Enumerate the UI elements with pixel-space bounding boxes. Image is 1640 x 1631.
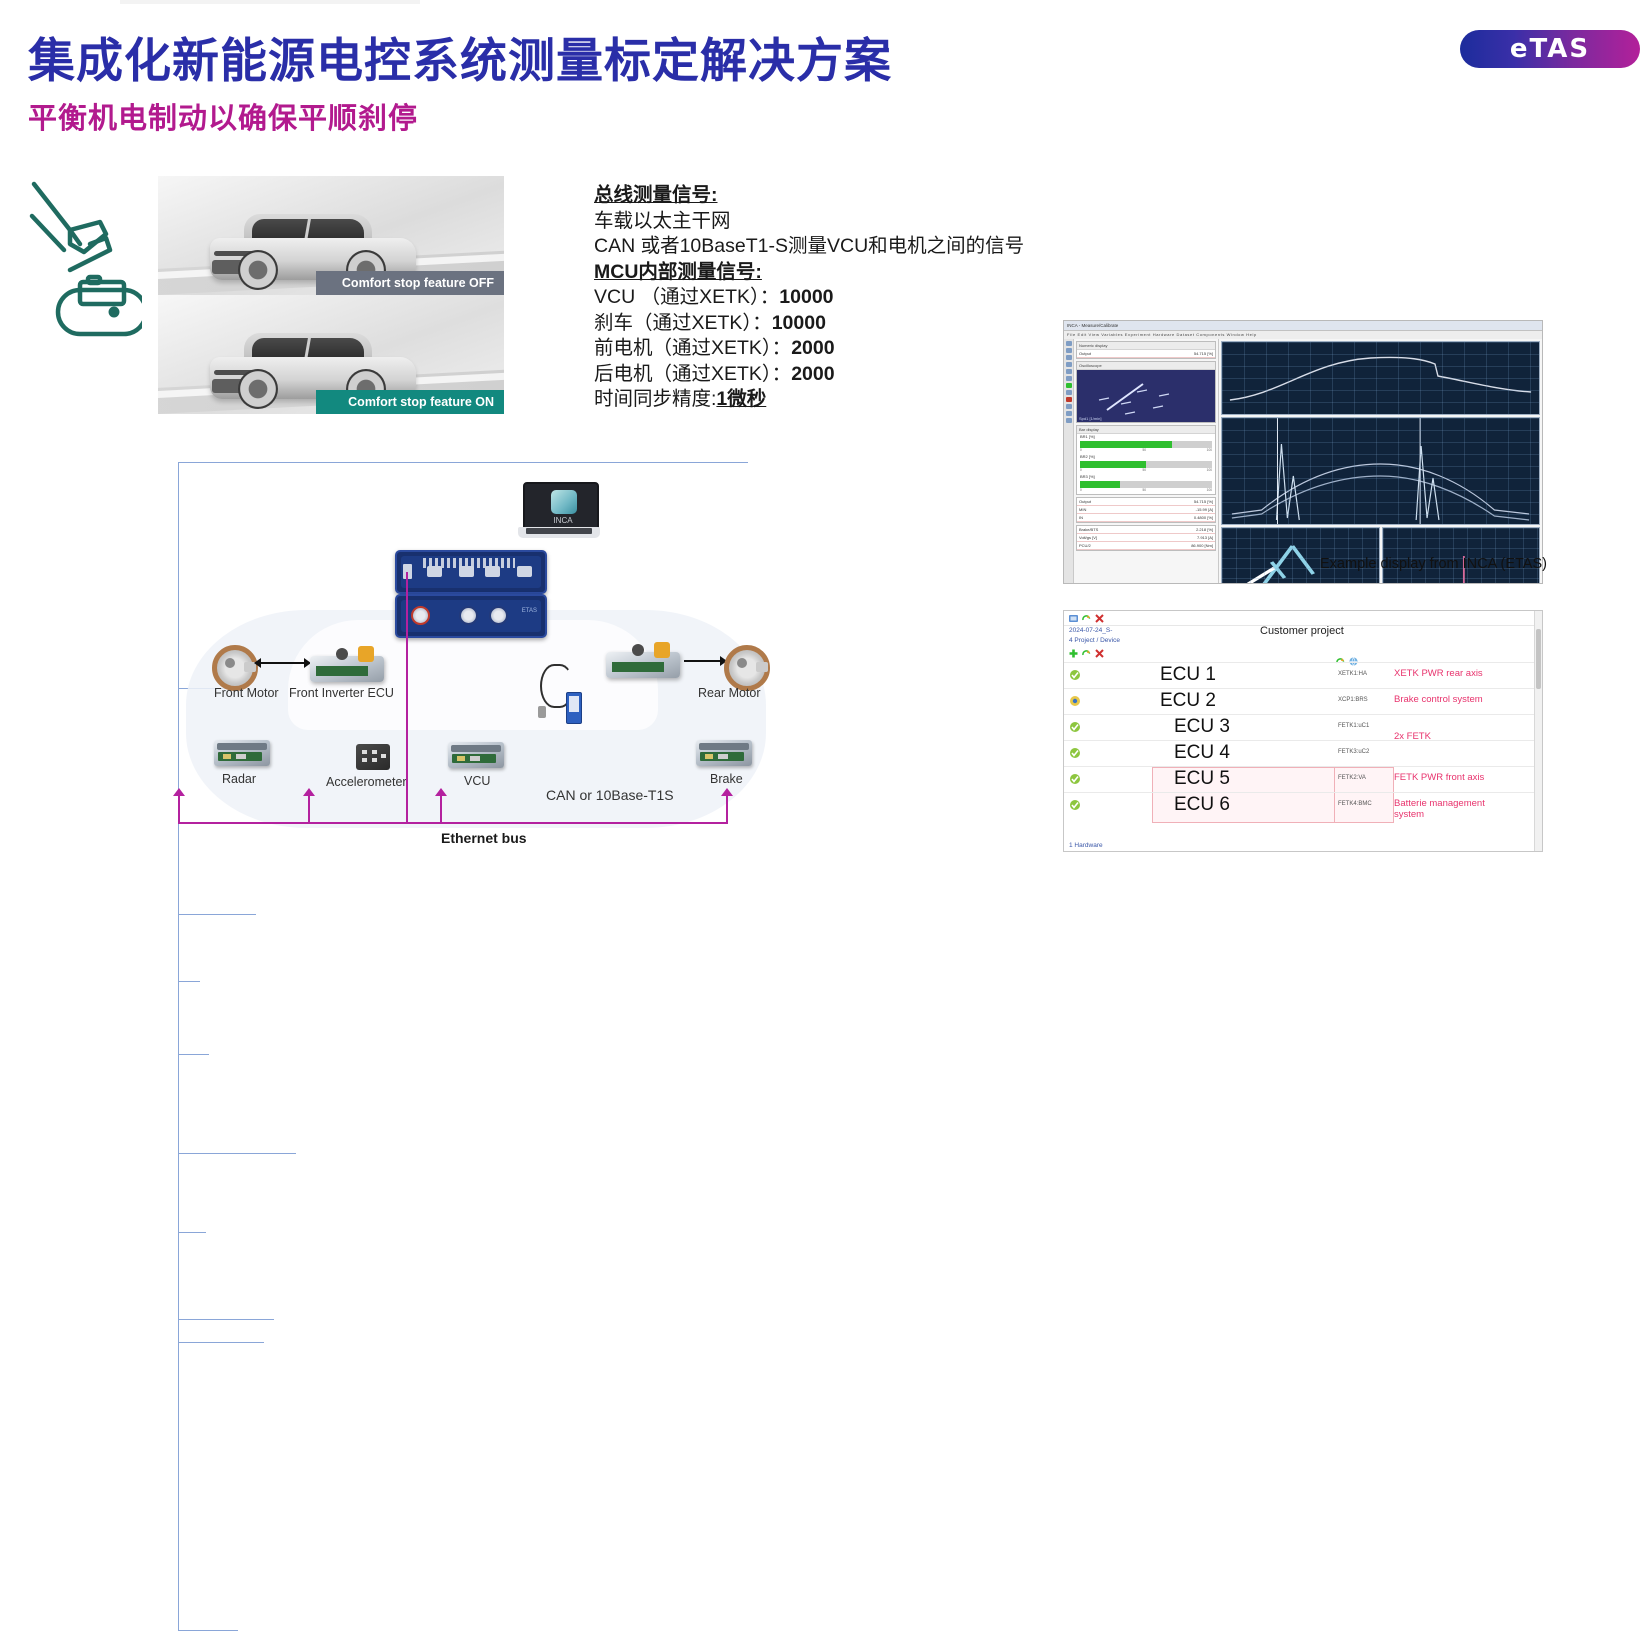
inca-numeric-value: 7.913 [A] (1197, 535, 1213, 540)
spec-label-sync: 时间同步精度: (594, 388, 716, 410)
wire-rear-motor-down (178, 1343, 798, 1516)
label-can-10base-t1s: CAN or 10Base-T1S (546, 787, 674, 803)
hw-project-path: 4 Project / Device (1064, 636, 1542, 646)
inca-numeric-row: Output 54.715 [%] (1077, 498, 1215, 506)
front-inverter-ecu-icon (310, 644, 384, 684)
inca-screenshot: INCA - Measure/Calibrate File Edit View … (1063, 320, 1543, 584)
inca-bar-track (1080, 441, 1212, 448)
spec-label-brake: 刹车（通过XETK）： (594, 312, 772, 334)
spec-value-rear-motor: 2000 (791, 363, 834, 385)
scale-mid: 50 (1142, 448, 1146, 452)
spec-value-sync: 1微秒 (716, 388, 766, 410)
car-image-off: Comfort stop feature OFF (158, 176, 504, 295)
ecu-device: FETK1:uC1 (1338, 723, 1369, 729)
delete-icon[interactable] (1095, 614, 1104, 623)
spec-label-vcu: VCU （通过XETK）： (594, 286, 779, 308)
inca-numeric-value: 2.218 [%] (1196, 527, 1213, 532)
inca-numeric-label: Brake/BTS (1079, 527, 1098, 532)
refresh-icon[interactable] (1082, 649, 1091, 658)
status-warn-icon (1069, 695, 1081, 707)
label-vcu: VCU (464, 774, 490, 788)
inca-bar-scale: 0 50 100 (1080, 448, 1212, 452)
inca-numeric-row: Output 54.715 [%] (1077, 350, 1215, 358)
feature-icon-group (22, 172, 142, 362)
inca-numeric-value: 0.4800 [%] (1194, 515, 1213, 520)
ecu-device: FETK3:uC2 (1338, 749, 1369, 755)
bus-signal-heading: 总线测量信号: (594, 183, 1046, 209)
inca-numeric-value: 86.900 [Nm] (1191, 543, 1213, 548)
inca-graph-speed (1221, 341, 1540, 415)
spec-label-front-motor: 前电机（通过XETK）： (594, 337, 791, 359)
hw-ecu-list: ECU 1 XETK1:HA XETK PWR rear axis ECU 2 … (1064, 662, 1542, 818)
delete-icon[interactable] (1095, 649, 1104, 658)
wire-inverter-lower (178, 1055, 798, 1153)
comfort-stop-off-banner: Comfort stop feature OFF (316, 271, 504, 295)
bus-riser-vcu (440, 795, 442, 824)
ecu-annotation: Brake control system (1394, 694, 1483, 705)
front-arrow-head-left (254, 658, 261, 668)
scale-mid: 50 (1142, 468, 1146, 472)
scale-max: 100 (1207, 468, 1212, 472)
inca-pane-bars: Bar display BR1 [%] 0 50 100 BR2 [%] 0 (1076, 425, 1216, 495)
inca-numeric-row: PCU/2 86.900 [Nm] (1077, 542, 1215, 550)
ecu-name: ECU 5 (1174, 768, 1230, 790)
inca-bar-track (1080, 481, 1212, 488)
status-ok-icon (1069, 773, 1081, 785)
hw-project-title: Customer project (1260, 625, 1344, 637)
bus-signal-line-2: CAN 或者10BaseT1-S测量VCU和电机之间的信号 (594, 234, 1046, 260)
bus-arrow-brake (721, 788, 733, 796)
ethernet-bus-line (178, 822, 728, 824)
inca-bar-item: BR3 [%] 0 50 100 (1077, 474, 1215, 492)
spec-row-sync: 时间同步精度:1微秒 (594, 387, 1046, 413)
bus-riser-module (406, 572, 408, 824)
wire-vcu-up (178, 1154, 798, 1232)
label-radar: Radar (222, 772, 256, 786)
inca-numeric-row: IN 0.4800 [%] (1077, 514, 1215, 522)
ecu-device: XCP1:BRS (1338, 697, 1368, 703)
inca-bar-item: BR1 [%] 0 50 100 (1077, 434, 1215, 452)
inca-numeric-label: Output (1079, 351, 1091, 356)
label-front-inverter-ecu: Front Inverter ECU (289, 686, 394, 700)
inca-numeric-label: IN (1079, 515, 1083, 520)
measurement-signal-spec: 总线测量信号: 车载以太主干网 CAN 或者10BaseT1-S测量VCU和电机… (594, 183, 1046, 413)
spec-value-brake: 10000 (772, 312, 826, 334)
ecu-annotation: Batterie management system (1394, 798, 1514, 820)
inca-pane-numeric-a: Output 54.715 [%] MIN -15.99 [A] IN 0.48… (1076, 497, 1216, 523)
refresh-icon[interactable] (1082, 614, 1091, 623)
etas-logo-text: eTAS (1510, 34, 1590, 64)
spec-row-vcu: VCU （通过XETK）：10000 (594, 285, 1046, 311)
inca-pane-title: Oscilloscope (1077, 362, 1215, 370)
hardware-configuration-panel: 2024-07-24_S- Customer project 4 Project… (1063, 610, 1543, 852)
bus-arrow-vcu (435, 788, 447, 796)
inca-numeric-row: MIN -15.99 [A] (1077, 506, 1215, 514)
status-ok-icon (1069, 799, 1081, 811)
table-row[interactable]: ECU 6 FETK4:BMC Batterie management syst… (1064, 792, 1542, 818)
hardware-icon[interactable] (1069, 614, 1078, 623)
inca-caption: Example display from INCA (ETAS) (1320, 556, 1547, 572)
ecu-annotation: FETK PWR front axis (1394, 772, 1484, 783)
table-row[interactable]: ECU 2 XCP1:BRS Brake control system (1064, 688, 1542, 714)
spec-row-rear-motor: 后电机（通过XETK）：2000 (594, 362, 1046, 388)
vehicle-network-diagram: ETAS INCA Front Motor Front Inverter ECU… (178, 462, 798, 862)
hw-toolbar[interactable] (1064, 611, 1542, 626)
hw-device-toolbar[interactable] (1064, 646, 1542, 660)
brake-pedal-icon (32, 184, 110, 270)
ecu-name: ECU 4 (1174, 742, 1230, 764)
mcu-signal-heading: MCU内部测量信号: (594, 260, 1046, 286)
scale-min: 0 (1080, 448, 1082, 452)
laptop-label: INCA (525, 516, 601, 525)
inca-pane-title: Numeric display (1077, 342, 1215, 350)
ecu-device: FETK4:BMC (1338, 801, 1372, 807)
scale-max: 100 (1207, 448, 1212, 452)
inca-workspace: Numeric display Output 54.715 [%] Oscill… (1064, 339, 1542, 583)
scale-max: 100 (1207, 488, 1212, 492)
inca-left-column: Numeric display Output 54.715 [%] Oscill… (1074, 339, 1219, 583)
status-ok-icon (1069, 669, 1081, 681)
comfort-stop-comparison-image: Comfort stop feature OFF Comfort stop fe… (158, 176, 504, 414)
bus-riser-radar (178, 795, 180, 824)
inca-numeric-row: Brake/BTS 2.218 [%] (1077, 526, 1215, 534)
bus-riser-accel (308, 795, 310, 824)
inca-bar-label: BR1 [%] (1077, 434, 1215, 439)
laptop-keyboard (526, 528, 592, 534)
measurement-module-es8xx[interactable] (395, 550, 547, 594)
ecu-name: ECU 6 (1174, 794, 1230, 816)
accelerometer-icon (356, 744, 390, 772)
inca-toolbar-rail[interactable] (1064, 339, 1074, 583)
ecu-name: ECU 2 (1160, 690, 1216, 712)
inca-app-icon (551, 490, 577, 514)
hw-footer-label: 1 Hardware (1069, 842, 1103, 849)
inca-graph-brake (1221, 417, 1540, 525)
bus-arrow-radar (173, 788, 185, 796)
wire-can-probe (178, 1516, 798, 1630)
wire-rear-down (178, 1320, 798, 1342)
etas-logo: eTAS (1460, 30, 1640, 68)
label-brake: Brake (710, 772, 743, 786)
inca-bar-track (1080, 461, 1212, 468)
bus-arrow-accel (303, 788, 315, 796)
brake-ecu-icon (696, 740, 752, 766)
scale-mid: 50 (1142, 488, 1146, 492)
inca-right-column (1219, 339, 1542, 583)
inca-numeric-label: Volt/gs [V] (1079, 535, 1097, 540)
status-ok-icon (1069, 721, 1081, 733)
inca-bar-label: BR2 [%] (1077, 454, 1215, 459)
bus-signal-line-1: 车载以太主干网 (594, 209, 1046, 235)
table-row[interactable]: ECU 4 FETK3:uC2 (1064, 740, 1542, 766)
inca-bar-scale: 0 50 100 (1080, 488, 1212, 492)
inca-bar-label: BR3 [%] (1077, 474, 1215, 479)
inca-numeric-value: 54.715 [%] (1194, 499, 1213, 504)
inca-pane-numeric-top: Numeric display Output 54.715 [%] (1076, 341, 1216, 359)
bus-riser-brake (726, 795, 728, 824)
inca-numeric-value: 54.715 [%] (1194, 351, 1213, 356)
comfort-stop-on-banner: Comfort stop feature ON (316, 390, 504, 414)
inca-bar-item: BR2 [%] 0 50 100 (1077, 454, 1215, 472)
rear-arrow-line (684, 660, 720, 662)
vcu-icon (448, 742, 504, 768)
top-accent-strip (120, 0, 420, 4)
scale-min: 0 (1080, 468, 1082, 472)
inca-bar-scale: 0 50 100 (1080, 468, 1212, 472)
oscope-traces (1077, 370, 1213, 422)
wire-vcu-stack (178, 1233, 798, 1319)
hw-scrollbar[interactable] (1534, 611, 1542, 851)
inca-pane-oscilloscope: Oscilloscope Spd1 [1/min] (1076, 361, 1216, 423)
brake-caliper-icon (58, 277, 142, 334)
wire-inverter-down (178, 982, 798, 1054)
spec-row-brake: 刹车（通过XETK）：10000 (594, 311, 1046, 337)
table-row[interactable]: ECU 1 XETK1:HA XETK PWR rear axis (1064, 662, 1542, 688)
measurement-module-es4xx[interactable]: ETAS (395, 594, 547, 638)
rear-inverter-icon (606, 640, 680, 680)
ecu-device: XETK1:HA (1338, 671, 1367, 677)
inca-numeric-row: Volt/gs [V] 7.913 [A] (1077, 534, 1215, 542)
front-arrow-line (260, 662, 304, 664)
inca-window-title: INCA - Measure/Calibrate (1064, 321, 1542, 331)
inca-numeric-value: -15.99 [A] (1196, 507, 1213, 512)
spec-value-front-motor: 2000 (791, 337, 834, 359)
wire-inverter-up (178, 915, 798, 981)
inca-numeric-label: MIN (1079, 507, 1086, 512)
add-icon[interactable] (1069, 649, 1078, 658)
radar-icon (214, 740, 270, 766)
car-image-on: Comfort stop feature ON (158, 295, 504, 414)
front-motor-icon (206, 642, 256, 684)
inca-pane-title: Bar display (1077, 426, 1215, 434)
spec-label-rear-motor: 后电机（通过XETK）： (594, 363, 791, 385)
page-title: 集成化新能源电控系统测量标定解决方案 (28, 22, 892, 91)
status-ok-icon (1069, 747, 1081, 759)
spec-row-front-motor: 前电机（通过XETK）：2000 (594, 336, 1046, 362)
page-subtitle: 平衡机电制动以确保平顺刹停 (28, 95, 418, 137)
spec-value-vcu: 10000 (779, 286, 833, 308)
label-accelerometer: Accelerometer (326, 775, 407, 789)
label-rear-motor: Rear Motor (698, 686, 761, 700)
inca-oscope-canvas: Spd1 [1/min] (1077, 370, 1215, 422)
inca-numeric-label: Output (1079, 499, 1091, 504)
laptop-screen: INCA (523, 482, 599, 530)
scale-min: 0 (1080, 488, 1082, 492)
ecu-name: ECU 1 (1160, 664, 1216, 686)
can-probe-icon (536, 662, 588, 724)
table-row[interactable]: ECU 3 FETK1:uC1 2x FETK (1064, 714, 1542, 740)
label-ethernet-bus: Ethernet bus (441, 830, 527, 846)
inca-pane-numeric-b: Brake/BTS 2.218 [%] Volt/gs [V] 7.913 [A… (1076, 525, 1216, 551)
ecu-name: ECU 3 (1174, 716, 1230, 738)
inca-numeric-label: PCU/2 (1079, 543, 1091, 548)
brake-icons-svg (22, 172, 142, 362)
inca-laptop[interactable]: INCA (518, 482, 600, 542)
ecu-device: FETK2:VA (1338, 775, 1366, 781)
rear-motor-icon (718, 642, 768, 684)
table-row[interactable]: ECU 5 FETK2:VA FETK PWR front axis (1064, 766, 1542, 792)
label-front-motor: Front Motor (214, 686, 279, 700)
ecu-annotation: XETK PWR rear axis (1394, 668, 1483, 679)
